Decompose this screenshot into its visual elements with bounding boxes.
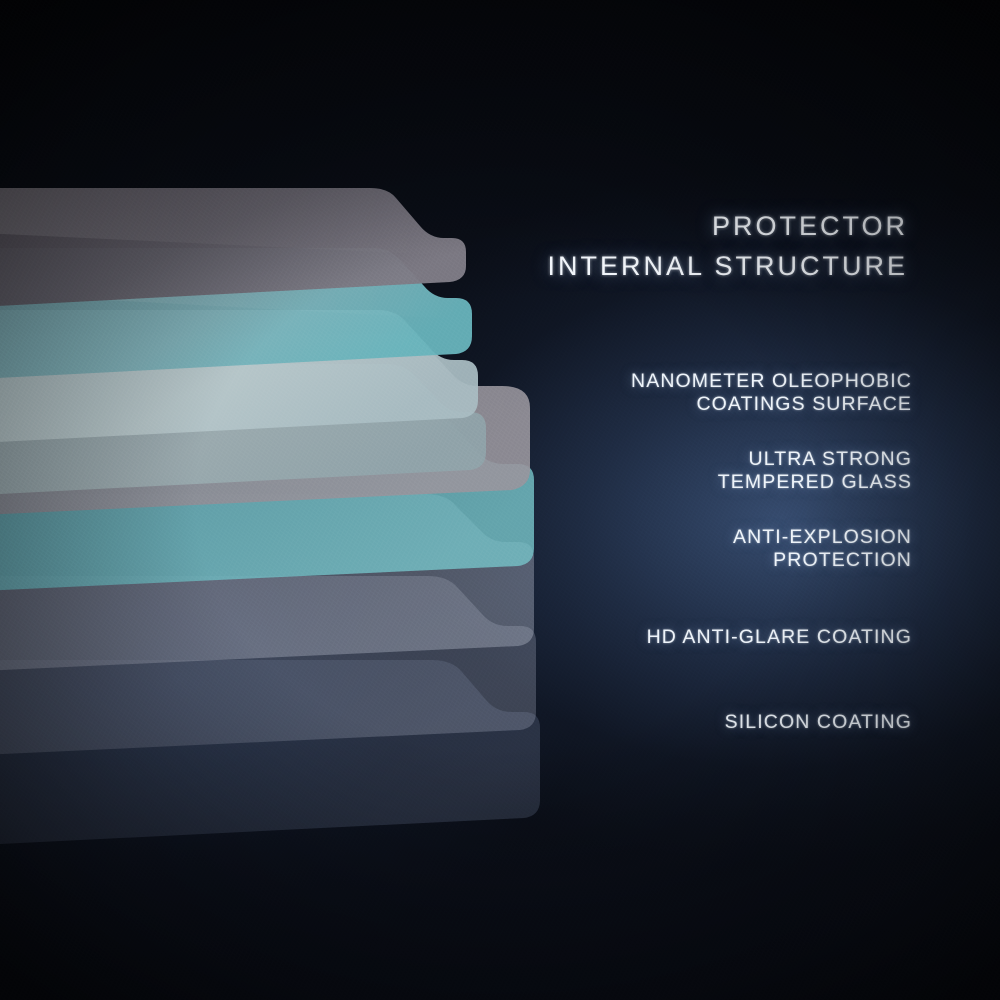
background-noise-texture <box>0 0 1000 1000</box>
protector-structure-infographic: PROTECTOR INTERNAL STRUCTURE NANOMETER O… <box>0 0 1000 1000</box>
